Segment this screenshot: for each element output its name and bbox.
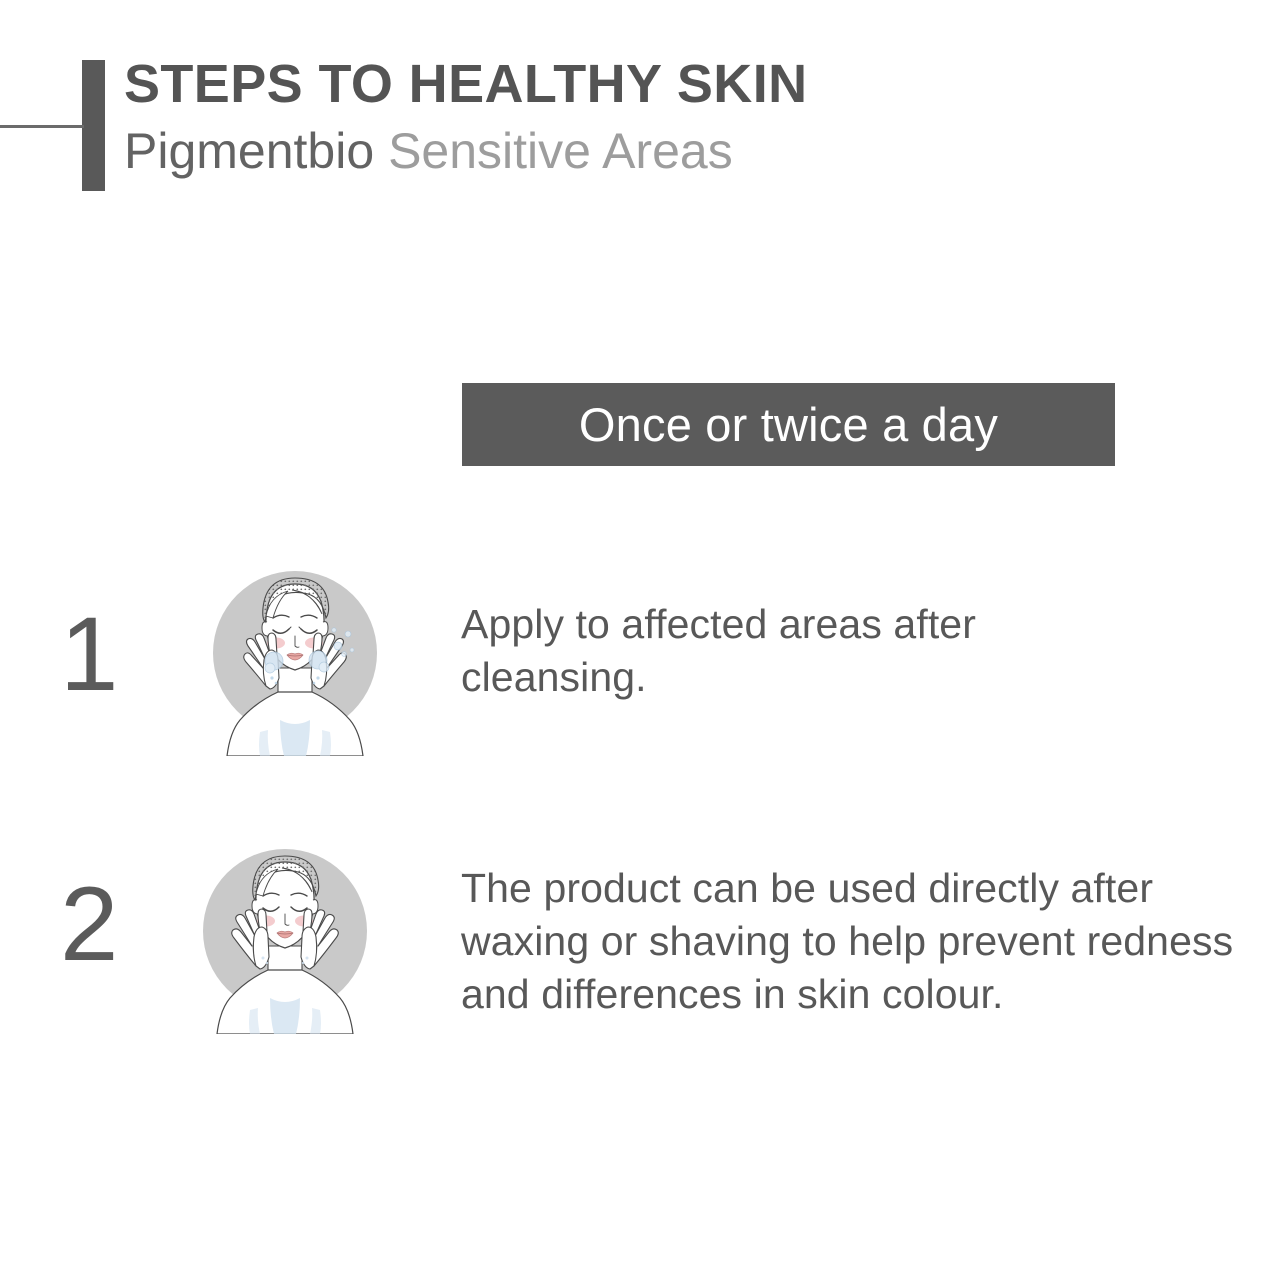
step-number: 2 <box>60 870 170 980</box>
step-description: The product can be used directly after w… <box>461 862 1236 1021</box>
logo-vertical-bar <box>82 60 105 191</box>
page-header: STEPS TO HEALTHY SKIN Pigmentbio Sensiti… <box>0 0 1280 230</box>
logo-horizontal-rule <box>0 125 84 128</box>
frequency-label: Once or twice a day <box>579 399 998 451</box>
woman-cleansing-face-with-foam-icon <box>200 560 390 760</box>
subtitle-range: Sensitive Areas <box>388 123 733 179</box>
subtitle-brand: Pigmentbio <box>124 123 374 179</box>
title-block: STEPS TO HEALTHY SKIN Pigmentbio Sensiti… <box>124 52 1224 181</box>
bracket-mark-icon <box>0 0 130 210</box>
woman-applying-product-to-face-icon <box>190 838 380 1038</box>
step-description: Apply to affected areas after cleansing. <box>461 598 1161 704</box>
page-title: STEPS TO HEALTHY SKIN <box>124 52 1224 116</box>
page-subtitle: Pigmentbio Sensitive Areas <box>124 121 1224 181</box>
step-number: 1 <box>60 600 170 710</box>
frequency-banner: Once or twice a day <box>462 383 1115 466</box>
